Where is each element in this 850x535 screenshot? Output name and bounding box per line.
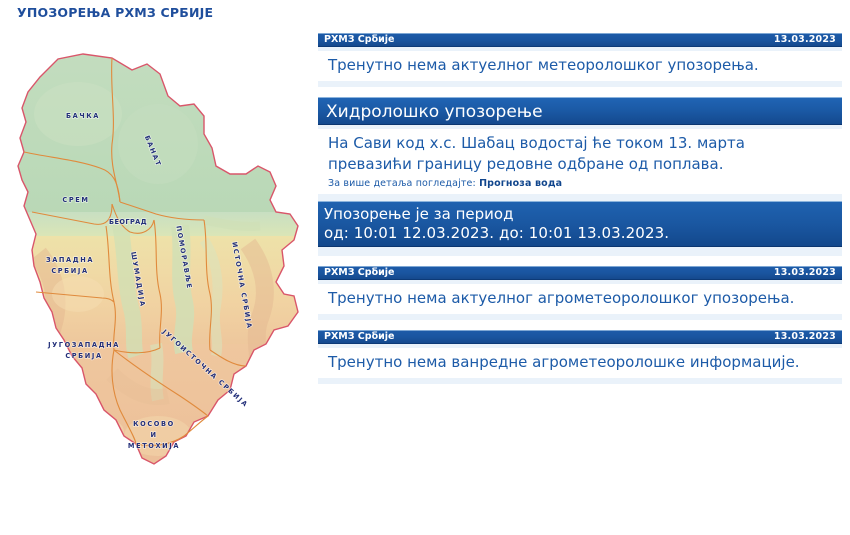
warnings-column: РХМЗ Србије 13.03.2023 Тренутно нема акт… [318,33,842,384]
serbia-map-svg: БАЧКА БАНАТ СРЕМ БЕОГРАД ЗАПАДНА СРБИЈА … [8,44,308,474]
panel-meteo-source: РХМЗ Србије [324,33,394,47]
panel-agro-info-body: Тренутно нема ванредне агрометеоролошке … [318,344,842,384]
panel-hydro-detail-prefix: За више детаља погледајте: [328,178,476,189]
panel-agro-warning-date: 13.03.2023 [774,266,836,280]
panel-hydro-text-line1: На Сави код х.с. Шабац водостај ће током… [328,133,832,154]
panel-agro-warning-text: Тренутно нема актуелног агрометеоролошко… [318,284,842,314]
panel-agro-warning: РХМЗ Србије 13.03.2023 Тренутно нема акт… [318,266,842,320]
panel-hydro-warning: Хидролошко упозорење На Сави код х.с. Ша… [318,97,842,256]
panel-agro-warning-body: Тренутно нема актуелног агрометеоролошко… [318,280,842,320]
panel-meteo-body: Тренутно нема актуелног метеоролошког уп… [318,47,842,87]
panel-meteo-date: 13.03.2023 [774,33,836,47]
panel-hydro-period-title: Упозорење је за период [324,205,842,224]
page-title: УПОЗОРЕЊА РХМЗ СРБИЈЕ [17,5,213,20]
panel-agro-warning-source: РХМЗ Србије [324,266,394,280]
panel-agro-info-caption-bar: РХМЗ Србије 13.03.2023 [318,330,842,344]
panel-hydro-header: Хидролошко упозорење [318,97,842,125]
region-label-metohija: МЕТОХИЈА [128,442,180,450]
panel-agro-info-text: Тренутно нема ванредне агрометеоролошке … [318,348,842,378]
panel-hydro-period-range: од: 10:01 12.03.2023. до: 10:01 13.03.20… [324,224,842,243]
region-label-zapadna-2: СРБИЈА [51,267,88,275]
region-label-jugozapadna-1: ЈУГОЗАПАДНА [47,341,120,349]
panel-meteo-warning: РХМЗ Србије 13.03.2023 Тренутно нема акт… [318,33,842,87]
panel-meteo-text: Тренутно нема актуелног метеоролошког уп… [318,51,842,81]
panel-agro-info: РХМЗ Србије 13.03.2023 Тренутно нема ван… [318,330,842,384]
region-label-srem: СРЕМ [62,196,89,204]
region-label-beograd: БЕОГРАД [109,218,147,226]
panel-agro-info-source: РХМЗ Србије [324,330,394,344]
panel-hydro-detail-line: За више детаља погледајте: Прогноза вода [318,177,842,194]
panel-hydro-body: На Сави код х.с. Шабац водостај ће током… [318,125,842,256]
region-label-jugozapadna-2: СРБИЈА [65,352,102,360]
panel-agro-warning-caption-bar: РХМЗ Србије 13.03.2023 [318,266,842,280]
region-label-kosovo: КОСОВО [133,420,175,428]
region-label-i: И [150,431,157,439]
serbia-region-map: БАЧКА БАНАТ СРЕМ БЕОГРАД ЗАПАДНА СРБИЈА … [8,44,308,474]
panel-hydro-text-line2: превазићи границу редовне одбране од поп… [328,154,832,175]
region-label-zapadna-1: ЗАПАДНА [46,256,94,264]
panel-hydro-spacer [318,194,842,201]
panel-hydro-text: На Сави код х.с. Шабац водостај ће током… [318,129,842,177]
panel-meteo-caption-bar: РХМЗ Србије 13.03.2023 [318,33,842,47]
panel-agro-info-date: 13.03.2023 [774,330,836,344]
panel-hydro-period-block: Упозорење је за период од: 10:01 12.03.2… [318,201,842,247]
region-label-backa: БАЧКА [66,112,100,120]
forecast-water-link[interactable]: Прогноза вода [479,178,562,189]
